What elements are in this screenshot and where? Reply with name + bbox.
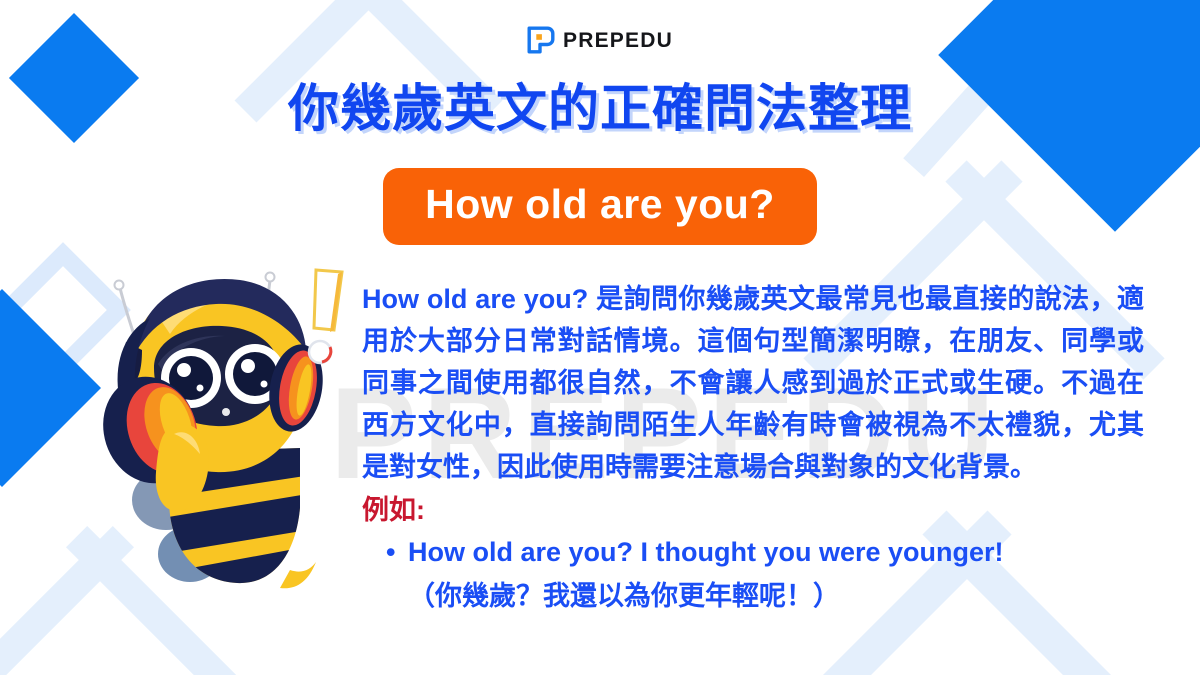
brand-logo-text: PREPEDU: [563, 30, 673, 51]
exclamation-mark-icon: [300, 262, 356, 372]
example-chinese: （你幾歲？我還以為你更年輕呢！）: [408, 574, 1144, 618]
phrase-pill-container: How old are you?: [0, 168, 1200, 245]
prepedu-square-icon: [527, 26, 555, 54]
example-label: 例如:: [362, 490, 1144, 530]
example-list: How old are you? I thought you were youn…: [362, 530, 1144, 618]
page-title: 你幾歲英文的正確問法整理: [0, 80, 1200, 139]
slide-canvas: PREPEDU PREPEDU 你幾歲英文的正確問法整理 How old are…: [0, 0, 1200, 675]
example-english: How old are you? I thought you were youn…: [408, 537, 1004, 567]
brand-logo: PREPEDU: [0, 26, 1200, 54]
content-block: How old are you? 是詢問你幾歲英文最常見也最直接的說法，適用於大…: [362, 278, 1144, 618]
phrase-pill: How old are you?: [383, 168, 817, 245]
list-item: How old are you? I thought you were youn…: [408, 530, 1144, 618]
body-paragraph: How old are you? 是詢問你幾歲英文最常見也最直接的說法，適用於大…: [362, 278, 1144, 488]
